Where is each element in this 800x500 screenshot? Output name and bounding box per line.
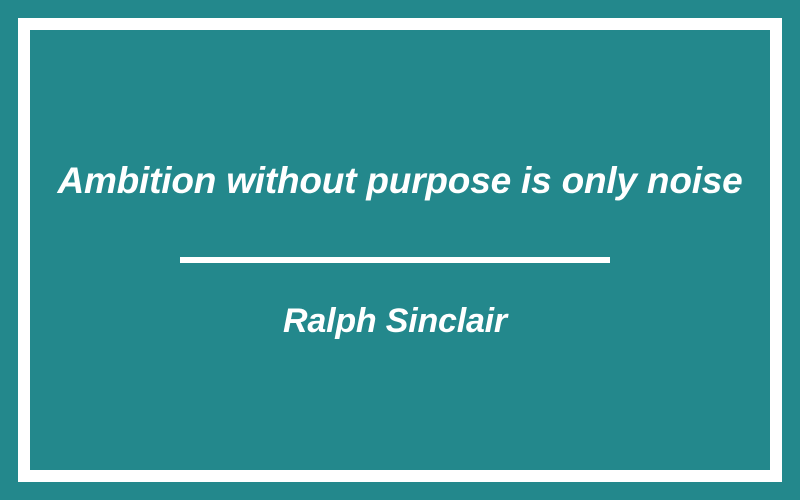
quote-text: Ambition without purpose is only noise [30, 159, 770, 203]
quote-content: Ambition without purpose is only noise R… [30, 30, 770, 470]
quote-card: Ambition without purpose is only noise R… [0, 0, 800, 500]
divider-rule [180, 257, 610, 263]
quote-author: Ralph Sinclair [283, 302, 507, 341]
